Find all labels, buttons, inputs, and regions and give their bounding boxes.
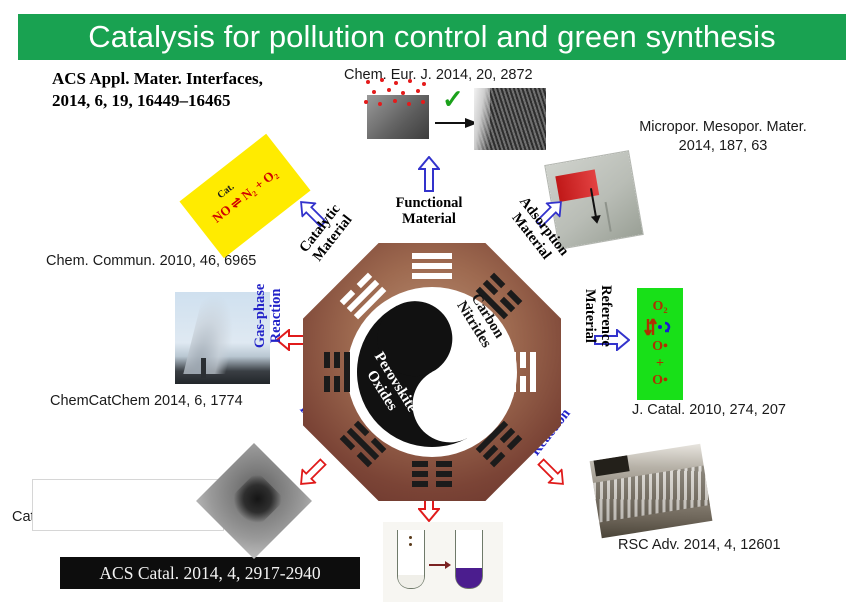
test-tube-before — [397, 530, 425, 589]
citation-chemcatchem: ChemCatChem 2014, 6, 1774 — [50, 392, 243, 411]
red-dots-overlay — [362, 78, 438, 112]
trigram-west — [324, 352, 350, 392]
citation-j-catal: J. Catal. 2010, 274, 207 — [632, 401, 786, 420]
title-banner: Catalysis for pollution control and gree… — [18, 14, 846, 60]
spoke-label-reference-material: Reference Material — [581, 271, 613, 361]
transformation-arrow-icon — [429, 564, 449, 566]
bagua-octagon-diagram: Carbon Nitrides Perovskite Oxides — [303, 243, 561, 501]
plus-sign: + — [656, 356, 664, 372]
no-decomposition-reaction-box: Cat. NO ⇌ N₂ + O₂ — [179, 134, 310, 258]
green-check-icon: ✓ — [442, 86, 468, 112]
tem-after-image — [474, 88, 546, 150]
arrow-up-functional — [418, 156, 440, 192]
test-tube-photo — [383, 522, 503, 602]
spoke-label-functional-material: Functional Material — [379, 196, 479, 228]
trigram-south — [412, 461, 452, 487]
test-tube-after — [455, 530, 483, 589]
equilibrium-arrows-icon — [640, 316, 680, 338]
dark-particulate-photo — [196, 443, 312, 559]
white-placeholder-box — [32, 479, 224, 531]
trigram-north — [412, 253, 452, 279]
black-arrow-icon — [435, 117, 479, 129]
oxygen-dissociation-reaction-box: O₂ O• + O• — [637, 288, 683, 400]
o-radical-1: O• — [652, 339, 668, 355]
spoke-label-gas-phase-reaction: Gas-phase Reaction — [253, 271, 285, 361]
o-radical-2: O• — [652, 373, 668, 389]
page-title: Catalysis for pollution control and gree… — [88, 19, 775, 55]
citation-acs-catal-box: ACS Catal. 2014, 4, 2917-2940 — [60, 557, 360, 589]
corrugated-material-photo — [590, 444, 713, 539]
o2-species: O₂ — [652, 299, 667, 315]
citation-micropor-mesopor-mater: Micropor. Mesopor. Mater. 2014, 187, 63 — [588, 118, 858, 155]
citation-rsc-adv: RSC Adv. 2014, 4, 12601 — [618, 536, 781, 555]
citation-acs-catal: ACS Catal. 2014, 4, 2917-2940 — [99, 563, 320, 584]
citation-acs-appl-mater-interfaces: ACS Appl. Mater. Interfaces, 2014, 6, 19… — [52, 68, 342, 112]
trigram-east — [510, 352, 536, 392]
